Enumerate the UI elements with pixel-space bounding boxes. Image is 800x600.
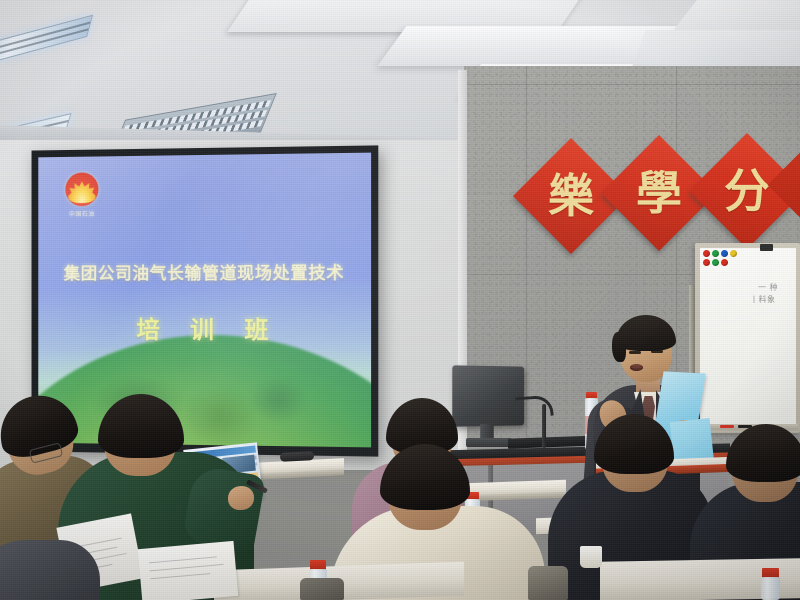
lcd-monitor[interactable] — [452, 365, 524, 426]
banner-character: 樂 — [548, 173, 594, 219]
magnet-yellow-icon[interactable] — [730, 250, 737, 257]
whiteboard-handwriting-line-2: 丨料象 — [750, 294, 776, 305]
magnet-red-2-icon[interactable] — [703, 259, 710, 266]
magnet-blue-icon[interactable] — [721, 250, 728, 257]
petrochina-sun-icon — [65, 172, 98, 206]
desk-item-case — [280, 451, 314, 462]
slide-subtitle: 培 训 班 — [38, 310, 371, 346]
chair-back — [528, 566, 568, 600]
banner-character: 分 — [724, 168, 770, 214]
logo-caption: 中国石油 — [60, 209, 105, 218]
sun-burst-icon — [68, 181, 95, 203]
recessed-light-panel-icon — [0, 15, 93, 66]
presenter-mouth — [630, 364, 643, 371]
magnet-green-2-icon[interactable] — [712, 259, 719, 266]
microphone-stand — [542, 404, 546, 448]
handout-papers-2 — [138, 541, 238, 600]
whiteboard[interactable]: 一 种 丨料象 — [700, 248, 796, 424]
monitor-stand-base — [466, 438, 512, 447]
presenter-eye — [629, 351, 641, 354]
chair-back — [300, 578, 344, 600]
marker-red-icon[interactable] — [720, 425, 734, 428]
magnet-red-icon[interactable] — [703, 250, 710, 257]
projection-screen[interactable]: 中国石油 集团公司油气长输管道现场处置技术 培 训 班 — [38, 153, 371, 448]
conference-room-photo: 樂 學 分 一 种 丨料象 中国石油 — [0, 0, 800, 600]
binder-clip-icon — [760, 244, 773, 251]
paper-cup — [580, 546, 602, 568]
petrochina-logo: 中国石油 — [60, 172, 105, 218]
attendee-foreground-left — [0, 540, 100, 600]
slide-title: 集团公司油气长输管道现场处置技术 — [38, 258, 371, 284]
banner-character: 學 — [636, 170, 682, 216]
whiteboard-handwriting-line-1: 一 种 — [758, 282, 778, 293]
attendee-hand — [228, 486, 254, 510]
projection-screen-frame: 中国石油 集团公司油气长输管道现场处置技术 培 训 班 — [32, 145, 379, 456]
magnet-red-3-icon[interactable] — [721, 259, 728, 266]
water-bottle — [761, 577, 780, 600]
magnet-green-icon[interactable] — [712, 250, 719, 257]
presenter-hair-side — [612, 332, 626, 362]
